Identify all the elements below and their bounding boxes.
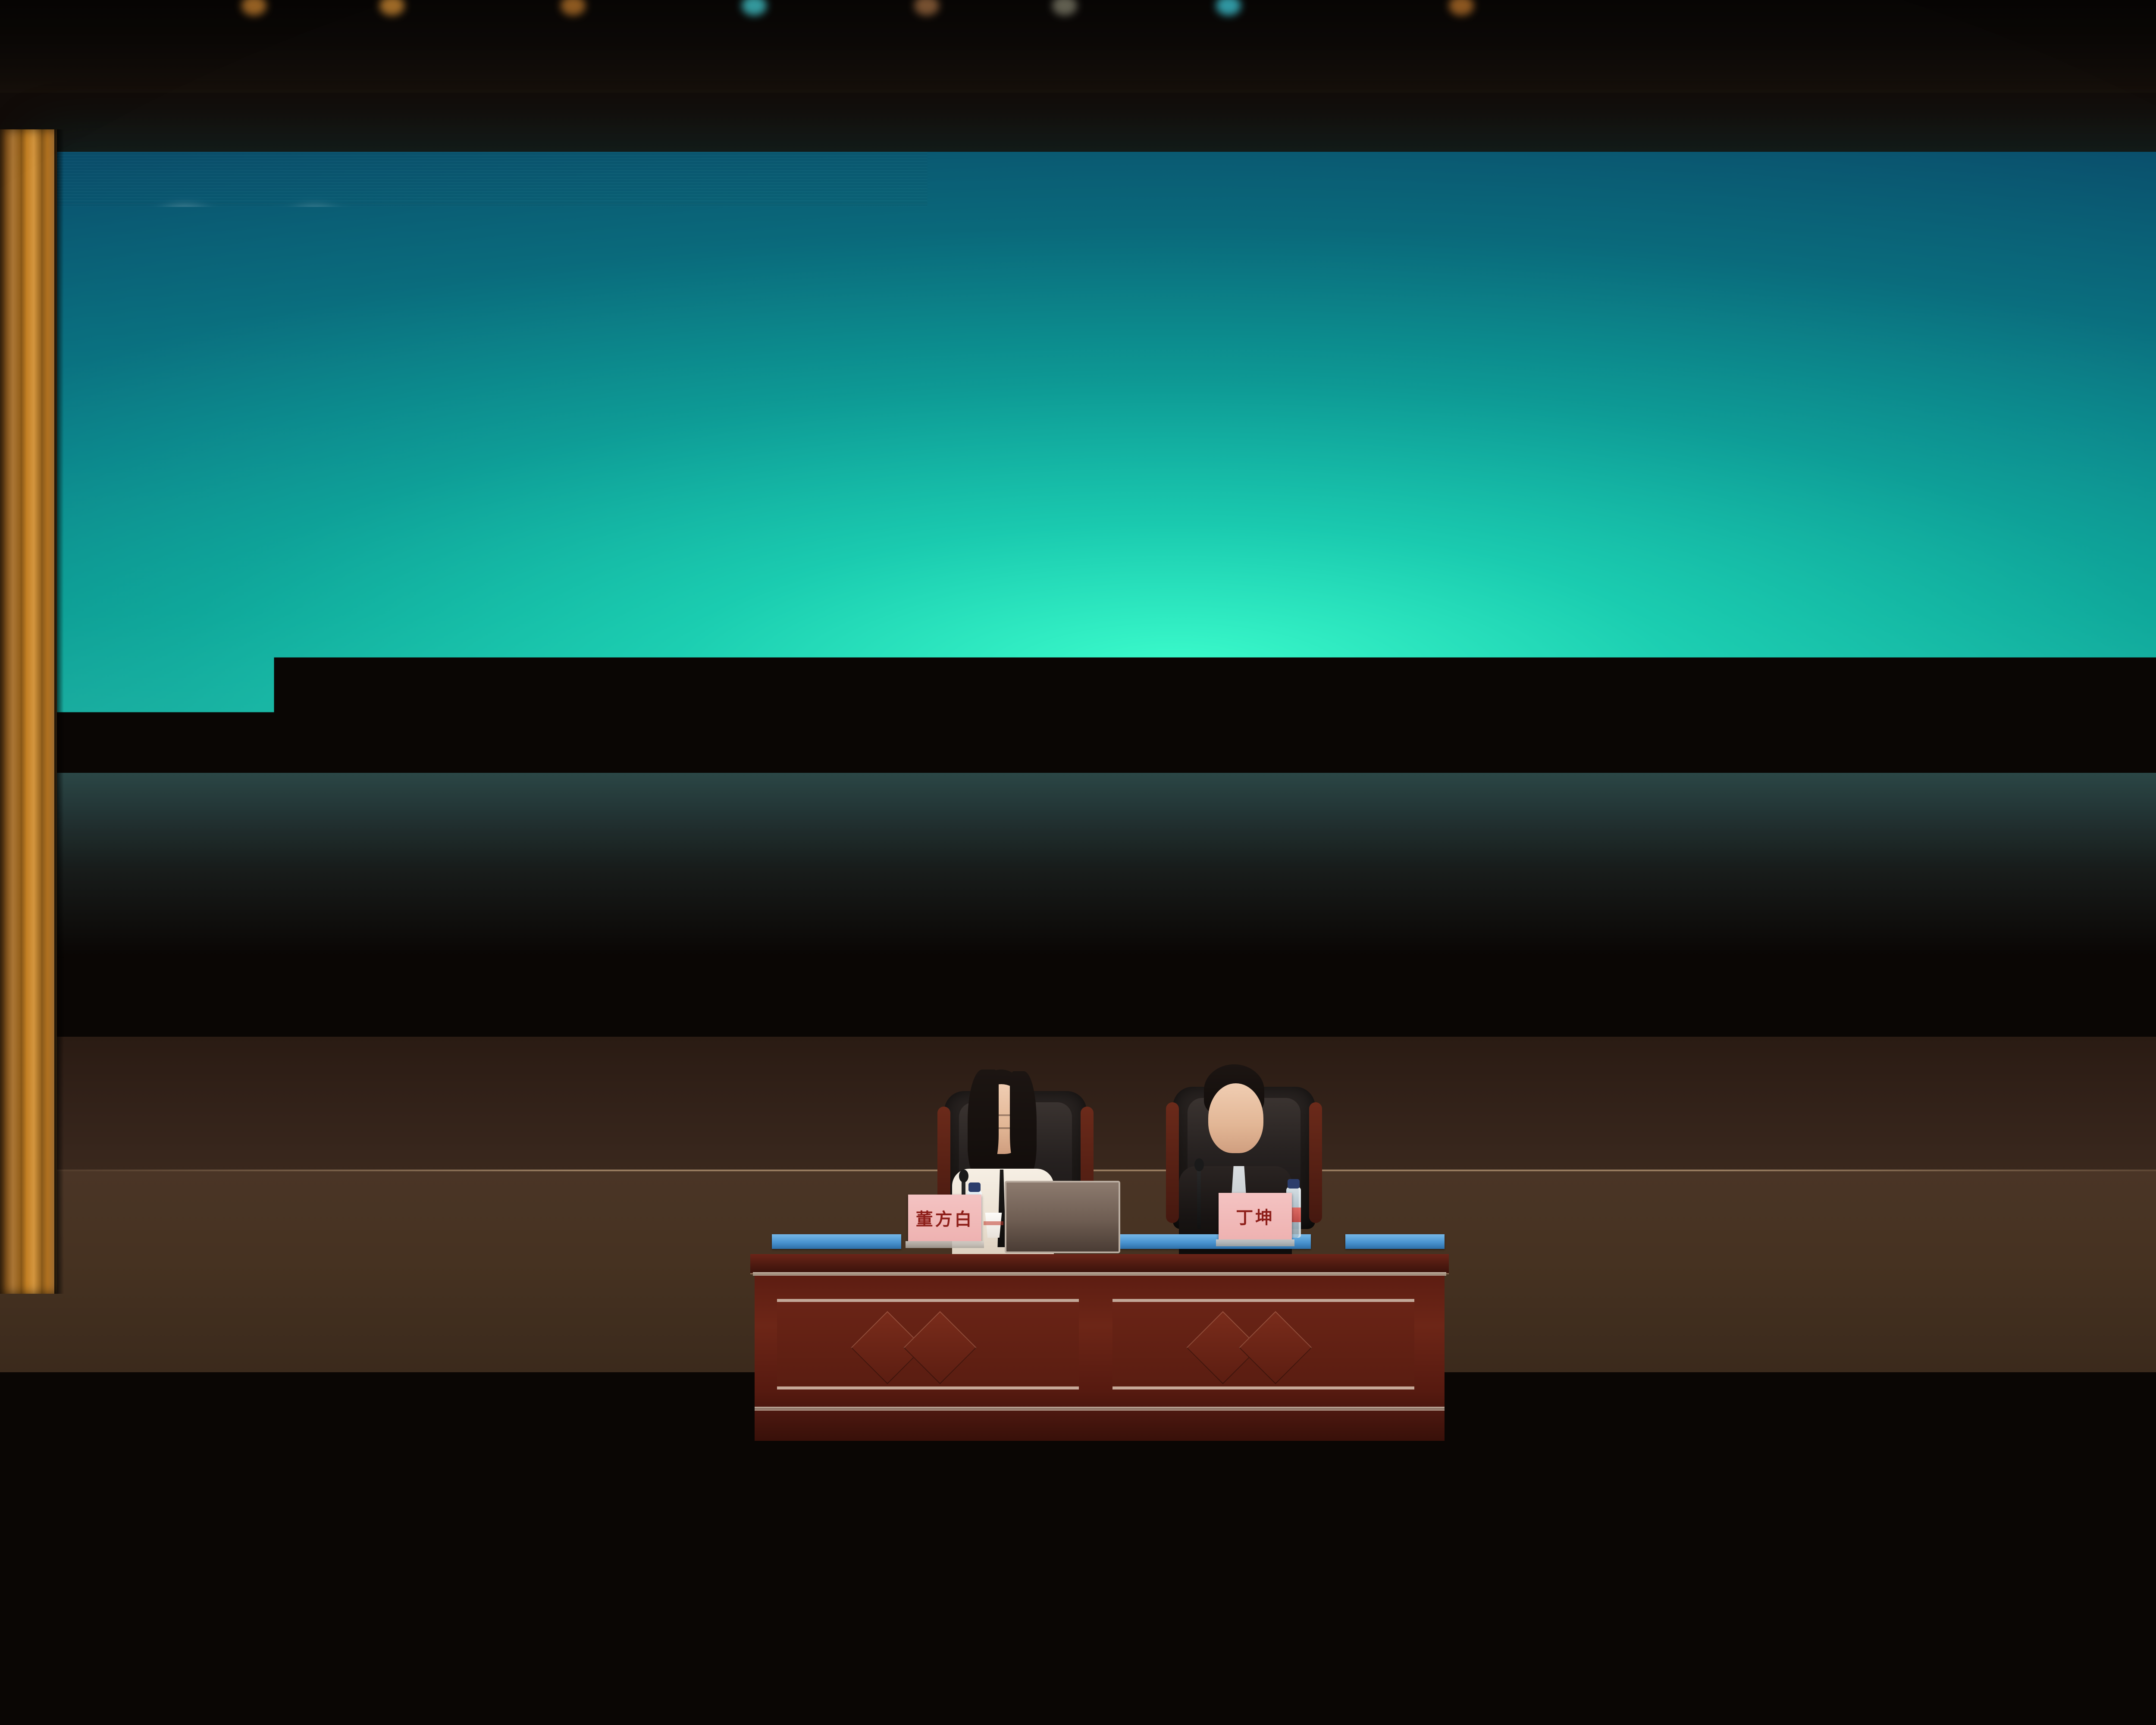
nameplate-right-base xyxy=(1216,1239,1294,1246)
nameplate-left-base xyxy=(906,1241,984,1248)
slide-logo-row: 1912 COLLEGE OF FORESTRY 河南农业大学林学院 河南农业 xyxy=(128,208,371,333)
slide-title-line-1: 2025级新生入学教育——心理健康 xyxy=(150,359,2156,461)
paper-cup-left-band xyxy=(984,1221,1003,1225)
slide-speaker-line: 主讲人：董方白 xyxy=(51,781,2156,869)
slide-title-line-2: 教育讲座 xyxy=(51,626,2156,728)
ceiling-light xyxy=(742,0,767,16)
ceiling-light xyxy=(914,0,939,16)
ceiling-light xyxy=(1216,0,1241,16)
table-top-surface xyxy=(750,1254,1449,1273)
bottle-cap-right xyxy=(1288,1179,1300,1189)
microphone-left-head xyxy=(959,1170,968,1182)
blue-desk-mat-far-right xyxy=(1345,1234,1445,1249)
svg-text:河南农业大学林学院: 河南农业大学林学院 xyxy=(152,218,218,226)
nameplate-right: 丁坤 xyxy=(1219,1193,1292,1239)
laptop[interactable] xyxy=(1005,1181,1120,1253)
apron-vent xyxy=(95,1712,160,1716)
person-right-head xyxy=(1208,1083,1263,1153)
bottle-cap-left xyxy=(968,1182,981,1192)
ceiling-light xyxy=(241,0,266,16)
auditorium-scene: 1912 COLLEGE OF FORESTRY 河南农业大学林学院 河南农业 xyxy=(0,0,2156,1725)
person-left-hair-front xyxy=(968,1069,999,1177)
person-left-hair-front-right xyxy=(1010,1071,1037,1176)
stage-curtain-left xyxy=(0,129,57,1294)
college-of-horticulture-seal-icon: 河南农业大学园艺学院 HENAN AGRICULTURAL UNIVERSITY xyxy=(259,208,371,333)
blue-desk-mat-left xyxy=(772,1234,901,1249)
ceiling-light xyxy=(1449,0,1474,16)
slide-date-line: 2025年11月4日 xyxy=(51,987,2156,1040)
svg-text:HENAN AGRICULTURAL UNIVERSITY: HENAN AGRICULTURAL UNIVERSITY xyxy=(269,318,361,324)
ceiling-light xyxy=(561,0,586,16)
microphone-right-head xyxy=(1194,1158,1204,1171)
college-of-forestry-seal-icon: 1912 COLLEGE OF FORESTRY 河南农业大学林学院 xyxy=(128,208,241,333)
nameplate-left-text: 董方白 xyxy=(916,1205,974,1230)
power-strip[interactable] xyxy=(1064,1357,1106,1375)
svg-text:河南农业大学园艺学院: 河南农业大学园艺学院 xyxy=(278,216,351,225)
auditorium-ceiling xyxy=(0,0,2156,103)
stage-front-apron xyxy=(0,1596,2156,1725)
slide-department-line: 林学院 园艺学院 xyxy=(51,867,2156,956)
svg-text:COLLEGE OF FORESTRY: COLLEGE OF FORESTRY xyxy=(137,314,232,323)
microphone-right xyxy=(1197,1164,1201,1229)
svg-text:1912: 1912 xyxy=(176,292,194,300)
nameplate-left: 董方白 xyxy=(908,1195,981,1241)
floor-outlet-box xyxy=(1069,1561,1130,1582)
ceiling-light xyxy=(379,0,404,16)
ceiling-light xyxy=(1052,0,1077,16)
table-chrome-trim-top xyxy=(753,1272,1446,1276)
led-presentation-screen: 1912 COLLEGE OF FORESTRY 河南农业大学林学院 河南农业 xyxy=(51,152,2156,1040)
nameplate-right-text: 丁坤 xyxy=(1236,1204,1275,1229)
